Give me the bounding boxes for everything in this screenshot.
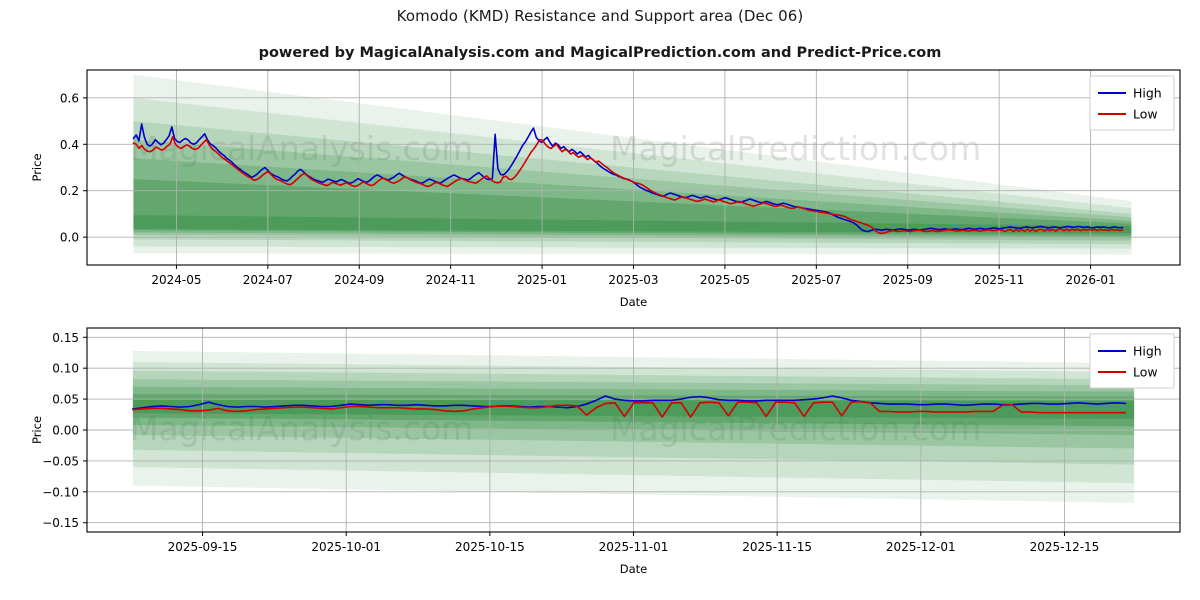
legend-label-low: Low [1133,365,1158,380]
figure-root: Komodo (KMD) Resistance and Support area… [0,0,1200,600]
x-tick-label: 2025-11-01 [599,540,669,554]
y-tick-label: 0.15 [52,331,79,345]
x-tick-label: 2025-10-15 [455,540,525,554]
x-tick-label: 2025-11-15 [742,540,812,554]
x-tick-label: 2025-12-15 [1030,540,1100,554]
legend-label-high: High [1133,344,1162,359]
y-tick-label: −0.05 [42,454,79,468]
y-tick-label: 0.05 [52,393,79,407]
x-tick-label: 2025-10-01 [311,540,381,554]
zoom-chart: MagicalAnalysis.comMagicalPrediction.com… [0,0,1200,600]
y-tick-label: 0.10 [52,362,79,376]
y-axis-label: Price [30,416,44,444]
x-tick-label: 2025-09-15 [168,540,238,554]
y-tick-label: −0.15 [42,516,79,530]
y-tick-label: 0.00 [52,424,79,438]
legend-box [1090,334,1174,388]
x-axis-label: Date [620,562,648,576]
x-tick-label: 2025-12-01 [886,540,956,554]
chart-legend[interactable]: HighLow [1090,334,1174,388]
y-tick-label: −0.10 [42,485,79,499]
